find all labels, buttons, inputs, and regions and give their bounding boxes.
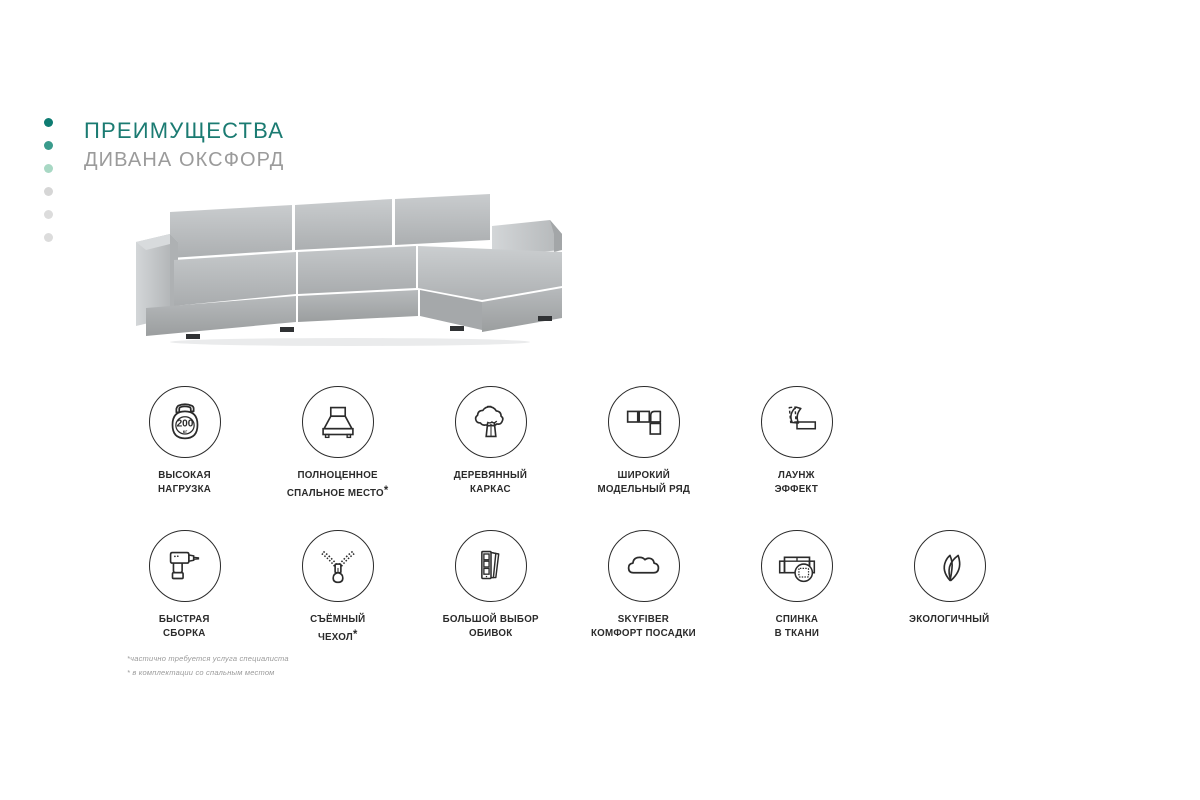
feature-label: ЛАУНЖ ЭФФЕКТ	[775, 469, 818, 497]
leaves-icon	[914, 530, 986, 602]
feature-label-line2: ОБИВОК	[469, 627, 512, 639]
feature-label: ДЕРЕВЯННЫЙ КАРКАС	[454, 469, 527, 497]
feature-label-line2: НАГРУЗКА	[158, 483, 211, 495]
bed-icon	[302, 386, 374, 458]
feature-label-line2: КАРКАС	[470, 483, 511, 495]
feature-label-line2: МОДЕЛЬНЫЙ РЯД	[597, 483, 690, 495]
feature-label-line2: ЭФФЕКТ	[775, 483, 818, 495]
feature-wide-model-range[interactable]: ШИРОКИЙ МОДЕЛЬНЫЙ РЯД	[567, 384, 720, 501]
feature-label: ВЫСОКАЯ НАГРУЗКА	[158, 469, 211, 497]
kettlebell-icon: 200 кг	[149, 386, 221, 458]
feature-label: СЪЁМНЫЙ ЧЕХОЛ*	[310, 613, 365, 645]
reclining-backrest-icon	[761, 386, 833, 458]
feature-skyfiber-comfort[interactable]: SKYFIBER КОМФОРТ ПОСАДКИ	[567, 528, 720, 645]
feature-label-line2: СБОРКА	[163, 627, 206, 639]
feature-lounge-effect[interactable]: ЛАУНЖ ЭФФЕКТ	[720, 384, 873, 501]
dot-6	[44, 233, 53, 242]
zipper-icon	[302, 530, 374, 602]
cloud-icon	[608, 530, 680, 602]
feature-label-line1: ДЕРЕВЯННЫЙ	[454, 469, 527, 481]
feature-label-line2: ЧЕХОЛ	[318, 631, 353, 643]
sofa-oxford-photo	[130, 190, 620, 365]
sofa-illustration	[130, 190, 620, 365]
dot-4	[44, 187, 53, 196]
feature-label: БЫСТРАЯ СБОРКА	[159, 613, 210, 641]
feature-wooden-frame[interactable]: ДЕРЕВЯННЫЙ КАРКАС	[414, 384, 567, 501]
feature-high-load[interactable]: 200 кг ВЫСОКАЯ НАГРУЗКА	[108, 384, 261, 501]
dot-5	[44, 210, 53, 219]
feature-label-line1: SKYFIBER	[618, 613, 669, 625]
sofa-fabric-back-icon	[761, 530, 833, 602]
features-row-2: БЫСТРАЯ СБОРКА СЪЁМНЫЙ ЧЕХОЛ*	[108, 528, 1068, 645]
modular-layout-icon	[608, 386, 680, 458]
feature-label-line1: ЛАУНЖ	[778, 469, 815, 481]
dot-3	[44, 164, 53, 173]
feature-label-line1: СЪЁМНЫЙ	[310, 613, 365, 625]
footnote-marker: *	[384, 483, 389, 497]
feature-label-line1: ЭКОЛОГИЧНЫЙ	[909, 613, 989, 625]
feature-label-line1: ПОЛНОЦЕННОЕ	[297, 469, 377, 481]
fabric-swatches-icon	[455, 530, 527, 602]
feature-fabric-back[interactable]: СПИНКА В ТКАНИ	[720, 528, 873, 645]
title-group: ПРЕИМУЩЕСТВА ДИВАНА ОКСФОРД	[84, 118, 284, 172]
kettlebell-weight-value: 200	[176, 418, 193, 429]
footnote-marker: *	[353, 627, 358, 641]
feature-label-line1: БЫСТРАЯ	[159, 613, 210, 625]
feature-label: SKYFIBER КОМФОРТ ПОСАДКИ	[591, 613, 696, 641]
kettlebell-weight-unit: кг	[182, 430, 186, 435]
feature-label-line2: СПАЛЬНОЕ МЕСТО	[287, 487, 384, 499]
features-grid: 200 кг ВЫСОКАЯ НАГРУЗКА ПО	[108, 384, 1068, 644]
feature-label-line1: СПИНКА	[775, 613, 818, 625]
feature-label: СПИНКА В ТКАНИ	[774, 613, 818, 641]
feature-upholstery-choice[interactable]: БОЛЬШОЙ ВЫБОР ОБИВОК	[414, 528, 567, 645]
feature-label-line1: ШИРОКИЙ	[617, 469, 669, 481]
feature-label: БОЛЬШОЙ ВЫБОР ОБИВОК	[442, 613, 538, 641]
feature-label-line2: КОМФОРТ ПОСАДКИ	[591, 627, 696, 639]
feature-label: ЭКОЛОГИЧНЫЙ	[909, 613, 989, 627]
feature-label-line1: ВЫСОКАЯ	[158, 469, 211, 481]
footnote-2: * в комплектации со спальным местом	[127, 666, 289, 680]
feature-label-line2: В ТКАНИ	[774, 627, 818, 639]
feature-label: ПОЛНОЦЕННОЕ СПАЛЬНОЕ МЕСТО*	[287, 469, 389, 501]
feature-removable-cover[interactable]: СЪЁМНЫЙ ЧЕХОЛ*	[261, 528, 414, 645]
decorative-dot-column	[44, 118, 66, 256]
dot-1	[44, 118, 53, 127]
feature-fast-assembly[interactable]: БЫСТРАЯ СБОРКА	[108, 528, 261, 645]
footnotes-block: *частично требуется услуга специалиста *…	[127, 652, 289, 680]
page-title: ПРЕИМУЩЕСТВА	[84, 118, 284, 143]
drill-icon	[149, 530, 221, 602]
footnote-1: *частично требуется услуга специалиста	[127, 652, 289, 666]
page-subtitle: ДИВАНА ОКСФОРД	[84, 149, 284, 172]
feature-label-line1: БОЛЬШОЙ ВЫБОР	[442, 613, 538, 625]
dot-2	[44, 141, 53, 150]
feature-label: ШИРОКИЙ МОДЕЛЬНЫЙ РЯД	[597, 469, 690, 497]
feature-full-sleeping-place[interactable]: ПОЛНОЦЕННОЕ СПАЛЬНОЕ МЕСТО*	[261, 384, 414, 501]
feature-eco-friendly[interactable]: ЭКОЛОГИЧНЫЙ	[873, 528, 1026, 645]
tree-icon	[455, 386, 527, 458]
features-row-1: 200 кг ВЫСОКАЯ НАГРУЗКА ПО	[108, 384, 1068, 501]
